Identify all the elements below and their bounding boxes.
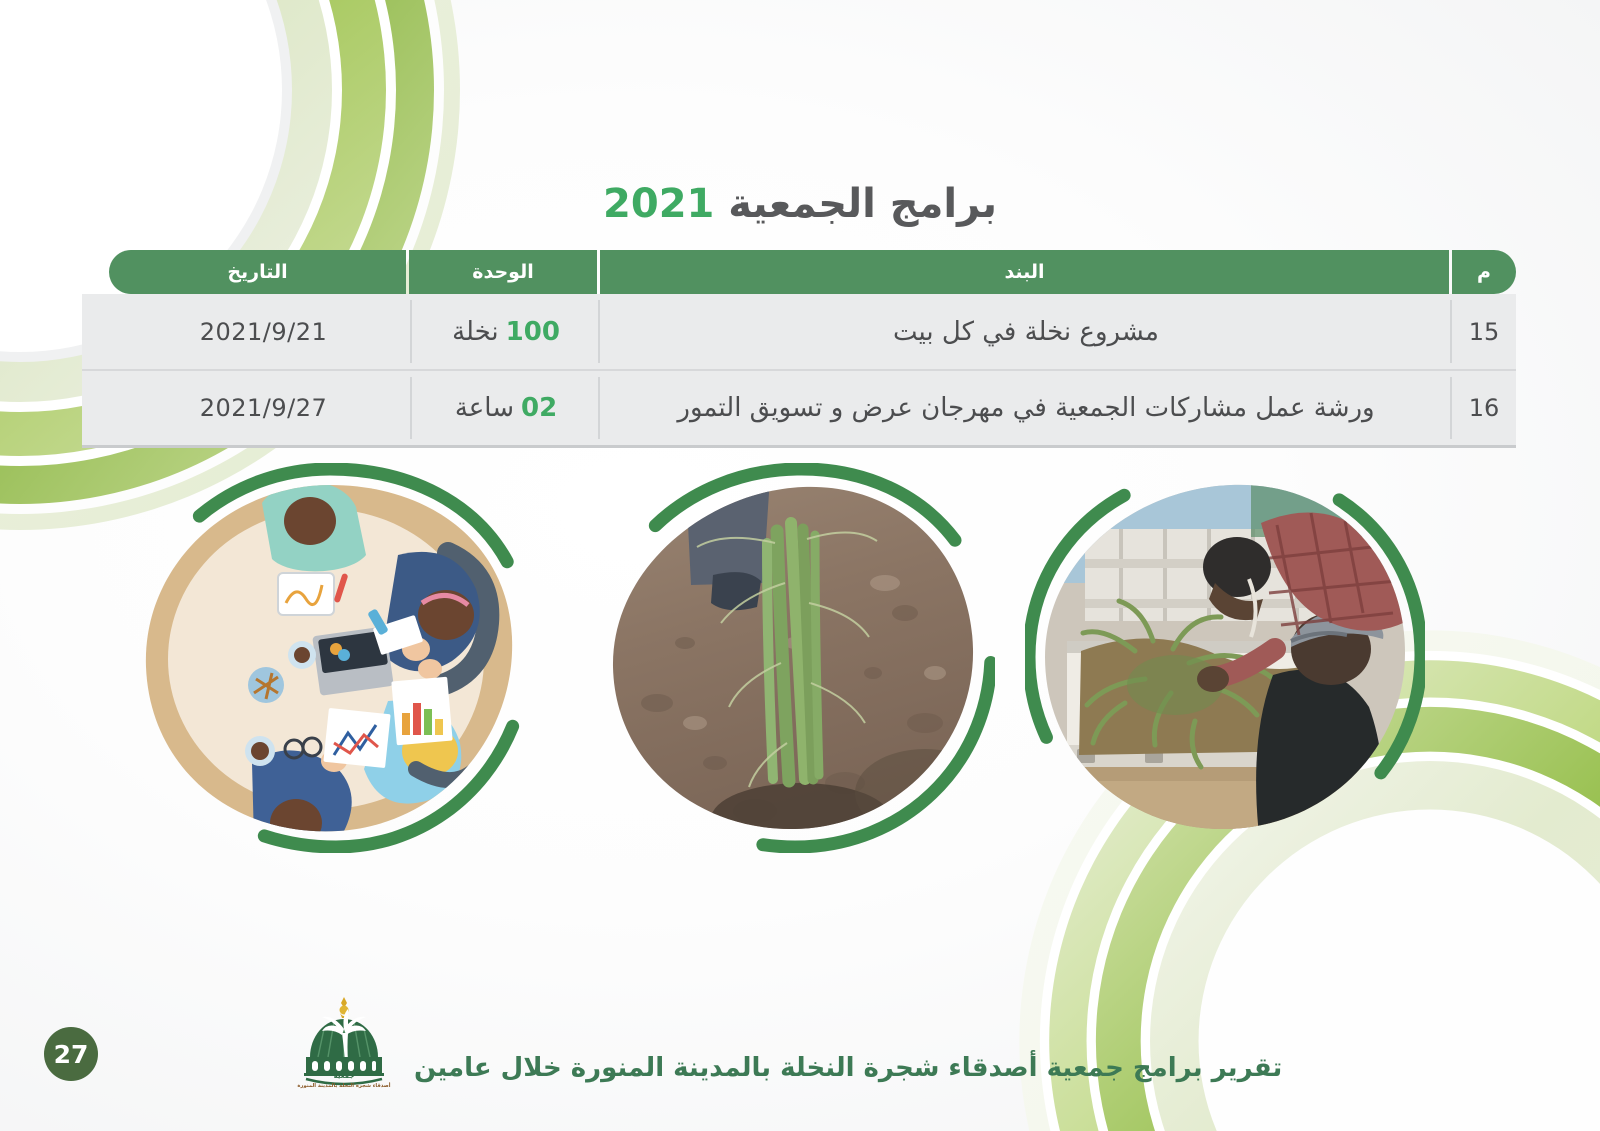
- photo-frame-planting: [595, 463, 995, 853]
- programs-table: م البند الوحدة التاريخ 15 مشروع نخلة في …: [82, 250, 1516, 448]
- column-header-unit: الوحدة: [409, 250, 597, 294]
- table-row: 15 مشروع نخلة في كل بيت 100 نخلة 2021/9/…: [82, 294, 1516, 371]
- cell-date: 2021/9/21: [115, 294, 412, 369]
- photo-card-planting: [595, 463, 995, 853]
- cell-unit: 100 نخلة: [412, 294, 600, 369]
- slide-footer: 27: [0, 995, 1600, 1105]
- logo-caption-arabic: جمعية: [290, 1072, 398, 1080]
- page-title-main: برامج الجمعية: [728, 181, 997, 227]
- association-logo: جمعية أصدقاء شجرة النخلة بالمدينة المنور…: [290, 993, 398, 1093]
- cell-unit-value: 100: [506, 317, 560, 347]
- cell-number: 15: [1452, 294, 1516, 369]
- table-header-row: م البند الوحدة التاريخ: [82, 250, 1516, 294]
- column-header-date: التاريخ: [109, 250, 406, 294]
- cell-item: ورشة عمل مشاركات الجمعية في مهرجان عرض و…: [600, 371, 1452, 445]
- photo-gallery: [110, 455, 1460, 855]
- footer-brand: جمعية أصدقاء شجرة النخلة بالمدينة المنور…: [290, 993, 1282, 1093]
- cell-number: 16: [1452, 371, 1516, 445]
- cell-unit: 02 ساعة: [412, 371, 600, 445]
- page-number-badge: 27: [44, 1027, 98, 1081]
- cell-unit-value: 02: [521, 393, 557, 423]
- page-title: برامج الجمعية 2021: [0, 182, 1600, 226]
- column-header-item: البند: [600, 250, 1449, 294]
- slide-root: برامج الجمعية 2021 م البند الوحدة التاري…: [0, 0, 1600, 1131]
- cell-item: مشروع نخلة في كل بيت: [600, 294, 1452, 369]
- photo-card-truck: [1025, 463, 1425, 853]
- photo-frame-truck: [1025, 463, 1425, 853]
- photo-frame-meeting: [130, 463, 530, 853]
- cell-unit-label: ساعة: [455, 393, 514, 423]
- footer-report-title: تقرير برامج جمعية أصدقاء شجرة النخلة بال…: [414, 1055, 1282, 1093]
- cell-date: 2021/9/27: [115, 371, 412, 445]
- table-row: 16 ورشة عمل مشاركات الجمعية في مهرجان عر…: [82, 371, 1516, 448]
- cell-unit-label: نخلة: [452, 317, 499, 347]
- logo-caption-subtitle: أصدقاء شجرة النخلة بالمدينة المنورة: [290, 1083, 398, 1089]
- column-header-number: م: [1452, 250, 1516, 294]
- photo-card-meeting: [130, 463, 530, 853]
- page-title-year: 2021: [603, 181, 714, 227]
